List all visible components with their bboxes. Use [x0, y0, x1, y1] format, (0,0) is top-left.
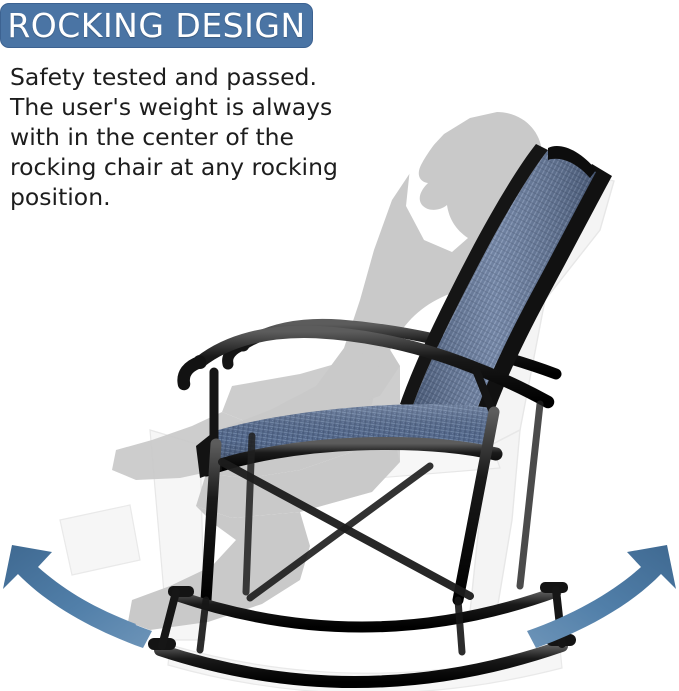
page-title: ROCKING DESIGN — [7, 9, 305, 42]
section-title-badge: ROCKING DESIGN — [0, 3, 313, 48]
infographic-page: ROCKING DESIGN Safety tested and passed.… — [0, 0, 679, 691]
description-paragraph: Safety tested and passed. The user's wei… — [10, 62, 360, 212]
description-text: Safety tested and passed. The user's wei… — [10, 62, 360, 212]
